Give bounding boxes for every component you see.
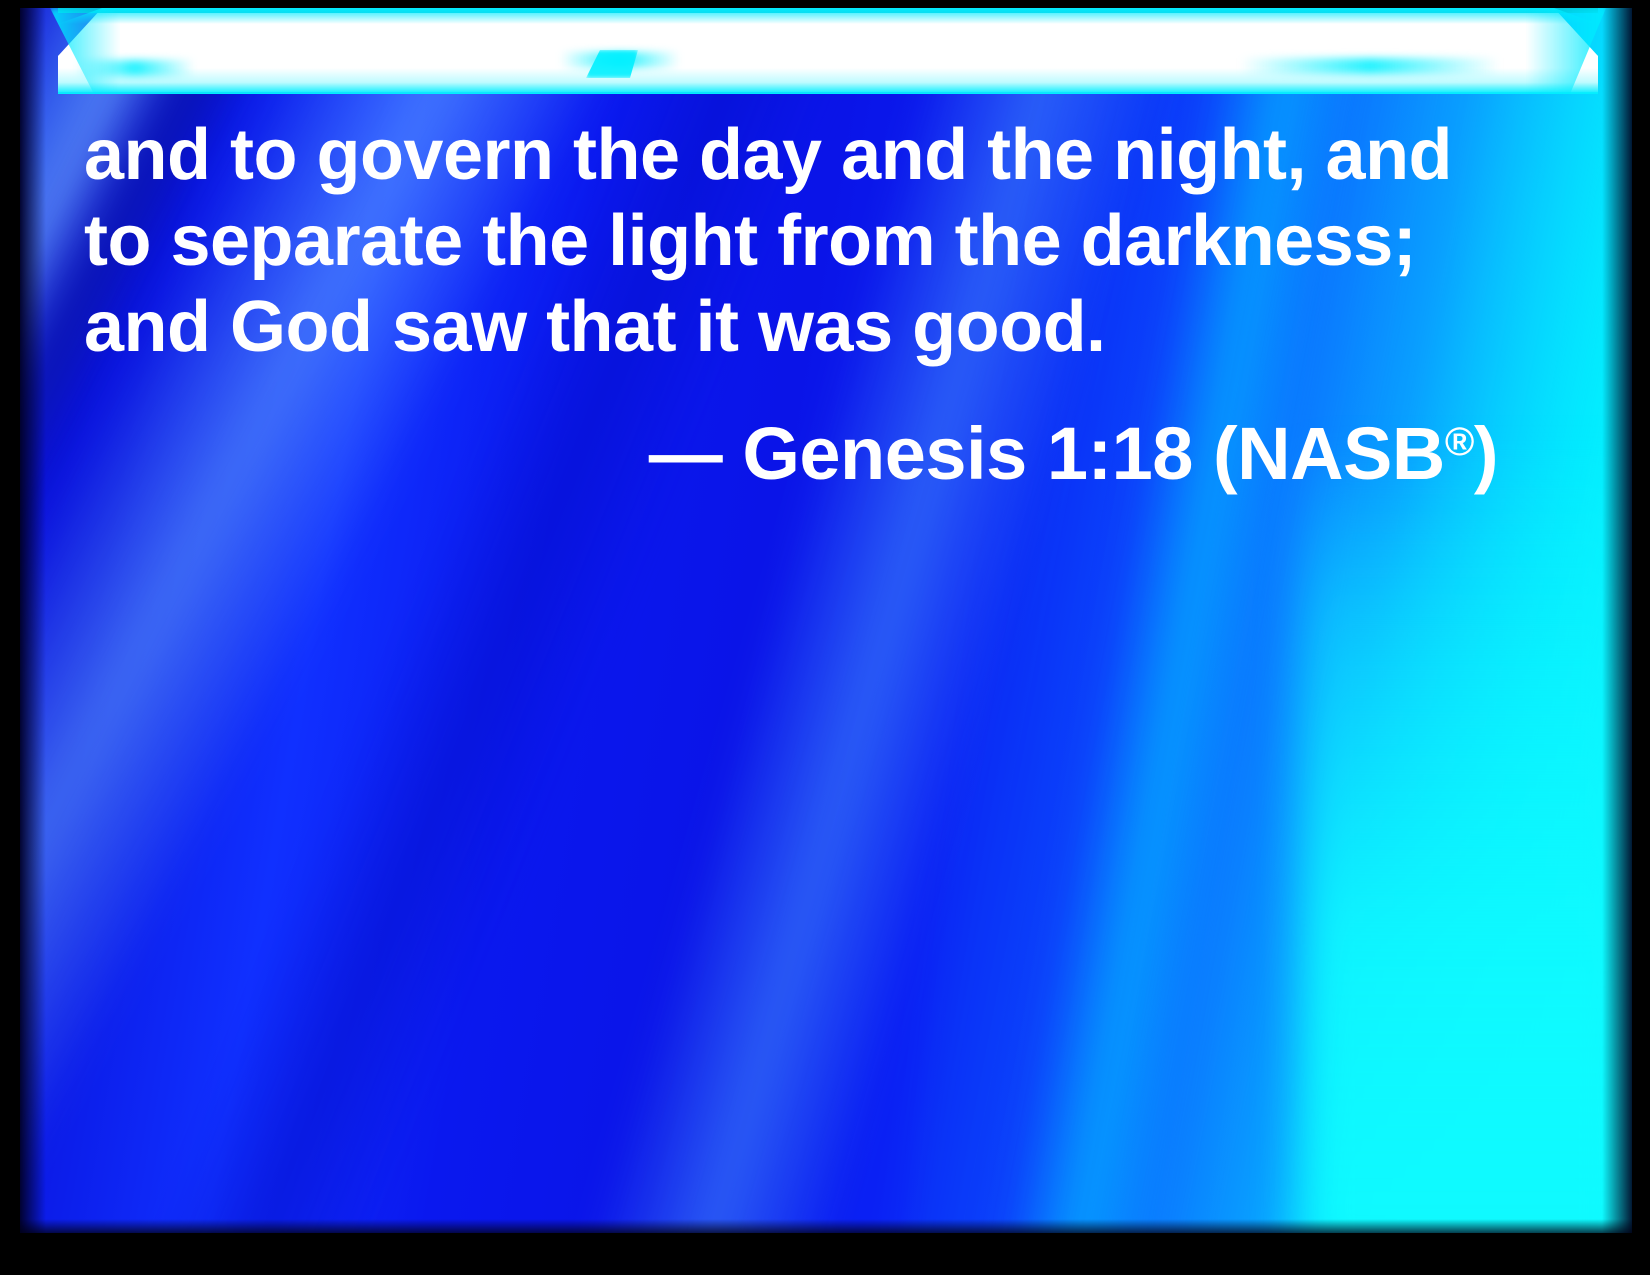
banner-cyan-top-edge (58, 8, 1598, 24)
banner-streak-right (1240, 58, 1500, 74)
slide-frame: and to govern the day and the night, and… (0, 0, 1650, 1275)
verse-attribution: — Genesis 1:18 (NASB®) (84, 414, 1508, 494)
background-cyan-wash-lower (1302, 443, 1632, 1233)
attribution-reference: Genesis 1:18 (742, 412, 1193, 495)
registered-trademark-icon: ® (1445, 420, 1474, 464)
attribution-close-paren: ) (1474, 412, 1498, 495)
verse-text-block: and to govern the day and the night, and… (84, 112, 1508, 494)
top-banner (20, 8, 1632, 94)
background-edge-shadow-bottom (20, 1219, 1632, 1233)
verse-line-2: to separate the light from the darkness; (84, 198, 1508, 284)
background-edge-shadow-left (20, 8, 46, 1233)
slide-canvas: and to govern the day and the night, and… (20, 8, 1632, 1233)
attribution-translation: NASB (1237, 412, 1445, 495)
verse-line-3: and God saw that it was good. (84, 284, 1508, 370)
verse-line-1: and to govern the day and the night, and (84, 112, 1508, 198)
attribution-dash: — (649, 412, 723, 495)
background-edge-shadow-right (1602, 8, 1632, 1233)
attribution-open-paren: ( (1213, 412, 1237, 495)
